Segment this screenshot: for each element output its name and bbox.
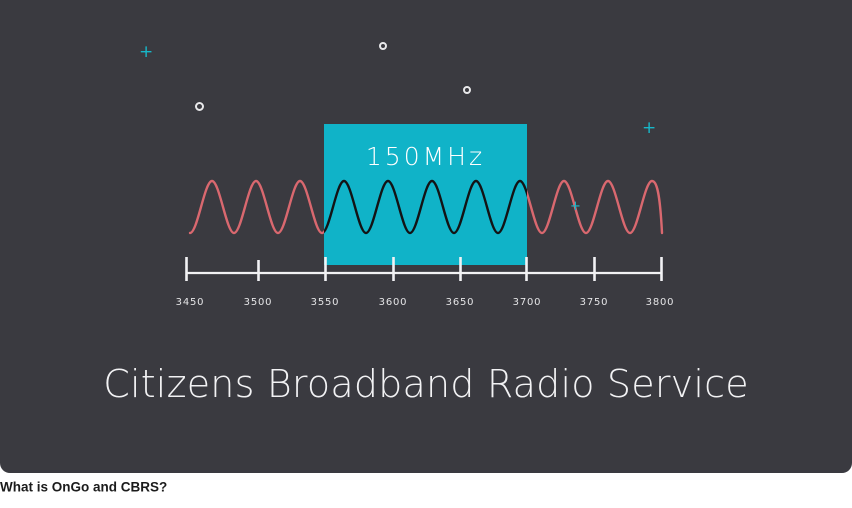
page-title: Citizens Broadband Radio Service xyxy=(0,362,852,406)
plus-marker-icon: + xyxy=(570,200,581,213)
axis-tick-label: 3650 xyxy=(430,297,490,308)
caption-heading: What is OnGo and CBRS? xyxy=(0,480,167,495)
plus-marker-icon: + xyxy=(642,120,656,137)
band-width-label: 150MHz xyxy=(324,142,527,171)
ring-marker-icon xyxy=(463,86,471,94)
hero-card: + + 150MHz xyxy=(0,0,852,473)
ring-marker-icon xyxy=(379,42,387,50)
axis-tick-label: 3600 xyxy=(363,297,423,308)
ring-marker-icon xyxy=(195,102,204,111)
axis-tick-label: 3800 xyxy=(630,297,690,308)
axis-tick-label: 3550 xyxy=(295,297,355,308)
axis-tick-label: 3750 xyxy=(564,297,624,308)
axis-tick-label: 3450 xyxy=(160,297,220,308)
axis-tick-label: 3700 xyxy=(497,297,557,308)
axis-tick-label: 3500 xyxy=(228,297,288,308)
plus-marker-icon: + xyxy=(139,44,153,61)
